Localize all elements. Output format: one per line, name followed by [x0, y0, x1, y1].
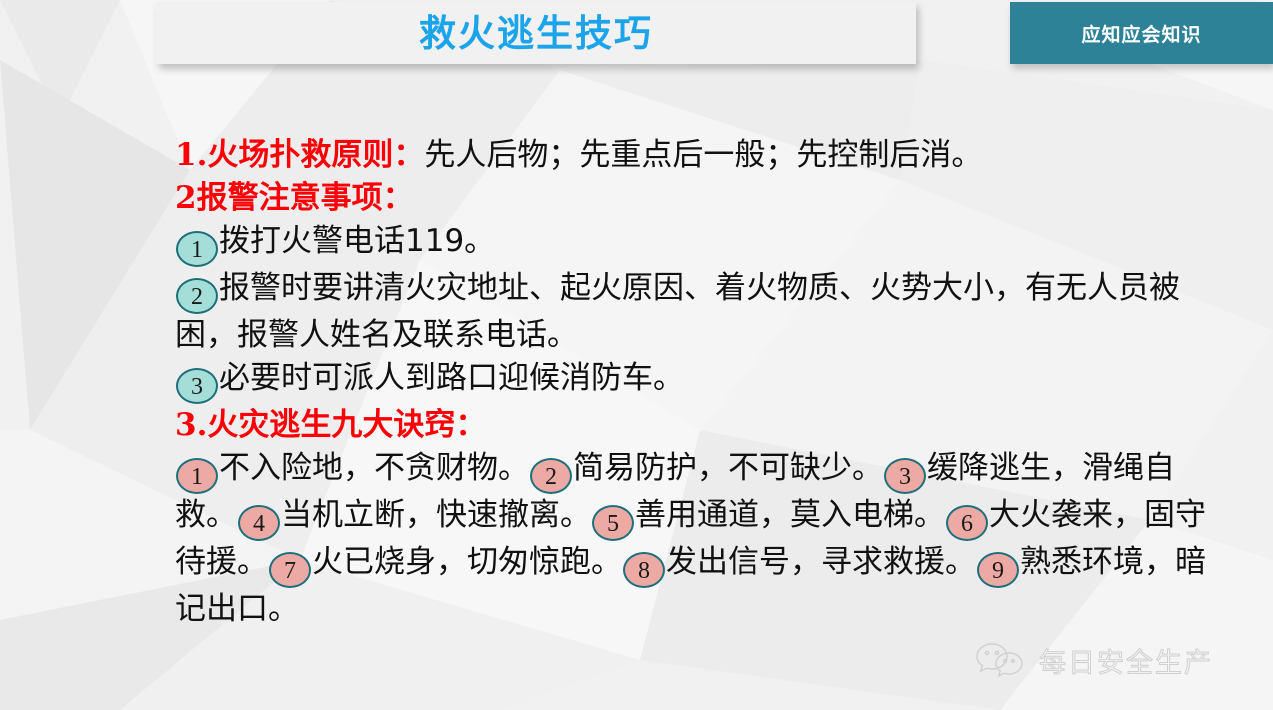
list-item-text: 不入险地，不贪财物。: [219, 450, 529, 486]
section-2-heading-line: 2报警注意事项：: [175, 177, 1225, 220]
list-item-text: 当机立断，快速撤离。: [281, 497, 591, 533]
watermark: 每日安全生产: [975, 640, 1213, 680]
list-marker-circle: 3: [884, 458, 926, 494]
watermark-label: 每日安全生产: [1039, 641, 1213, 680]
list-marker-circle: 4: [238, 505, 280, 541]
section-3-heading: 3.火灾逃生九大诀窍：: [175, 407, 486, 443]
category-badge: 应知应会知识: [1010, 2, 1273, 64]
list-item-text: 简易防护，不可缺少。: [573, 450, 883, 486]
slide-body: 1.火场扑救原则：先人后物；先重点后一般；先控制后消。 2报警注意事项： 1拨打…: [175, 134, 1225, 631]
section-2-item-2: 2报警时要讲清火灾地址、起火原因、着火物质、火势大小，有无人员被困，报警人姓名及…: [175, 267, 1225, 357]
list-marker-circle: 1: [176, 458, 218, 494]
wechat-icon: [975, 640, 1029, 680]
list-marker-circle: 1: [176, 231, 218, 267]
list-marker-circle: 5: [592, 505, 634, 541]
section-3-heading-line: 3.火灾逃生九大诀窍：: [175, 404, 1225, 447]
section-1-line: 1.火场扑救原则：先人后物；先重点后一般；先控制后消。: [175, 134, 1225, 177]
list-marker-circle: 9: [977, 552, 1019, 588]
section-3-list: 1不入险地，不贪财物。2简易防护，不可缺少。3缓降逃生，滑绳自救。4当机立断，快…: [175, 447, 1225, 631]
list-marker-circle: 6: [946, 505, 988, 541]
list-item-text: 火已烧身，切匆惊跑。: [312, 544, 622, 580]
section-2-item-3: 3必要时可派人到路口迎候消防车。: [175, 357, 1225, 404]
page-title: 救火逃生技巧: [419, 15, 653, 52]
list-item-text: 报警时要讲清火灾地址、起火原因、着火物质、火势大小，有无人员被困，报警人姓名及联…: [175, 270, 1180, 353]
list-item-text: 必要时可派人到路口迎候消防车。: [219, 360, 684, 396]
section-1-body: 先人后物；先重点后一般；先控制后消。: [424, 137, 982, 173]
list-item-text: 拨打火警电话119。: [219, 223, 495, 259]
list-marker-circle: 7: [269, 552, 311, 588]
list-marker-circle: 8: [623, 552, 665, 588]
section-1-heading: 1.火场扑救原则：: [175, 137, 424, 173]
section-2-item-1: 1拨打火警电话119。: [175, 220, 1225, 267]
list-marker-circle: 3: [176, 368, 218, 404]
list-marker-circle: 2: [530, 458, 572, 494]
slide-canvas: 救火逃生技巧 应知应会知识 1.火场扑救原则：先人后物；先重点后一般；先控制后消…: [0, 0, 1273, 710]
section-2-heading: 2报警注意事项：: [175, 180, 414, 216]
list-item-text: 发出信号，寻求救援。: [666, 544, 976, 580]
list-marker-circle: 2: [176, 278, 218, 314]
category-badge-label: 应知应会知识: [1081, 20, 1201, 47]
list-item-text: 善用通道，莫入电梯。: [635, 497, 945, 533]
slide-title-box: 救火逃生技巧: [156, 2, 916, 64]
